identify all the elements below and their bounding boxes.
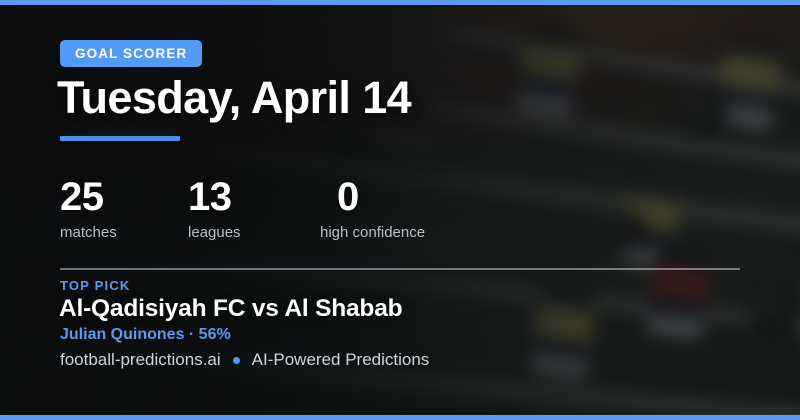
title-underline-rule	[60, 136, 180, 141]
footer-tagline: AI-Powered Predictions	[252, 350, 430, 370]
footer: football-predictions.ai AI-Powered Predi…	[60, 350, 429, 370]
top-pick-eyebrow: TOP PICK	[60, 278, 131, 293]
stat-matches-label: matches	[60, 224, 188, 241]
prediction-card: GOAL SCORER Tuesday, April 14 25 matches…	[0, 0, 800, 420]
top-pick-selection: Julian Quinones · 56%	[60, 326, 231, 344]
stat-high-confidence: 0 high confidence	[320, 176, 520, 241]
stats-row: 25 matches 13 leagues 0 high confidence	[60, 176, 520, 241]
stat-high-confidence-value: 0	[337, 176, 520, 218]
footer-site-name: football-predictions.ai	[60, 350, 221, 370]
top-pick-match-title: Al-Qadisiyah FC vs Al Shabab	[59, 295, 402, 323]
card-content: GOAL SCORER Tuesday, April 14 25 matches…	[60, 0, 740, 420]
section-divider	[60, 268, 740, 270]
stat-matches-value: 25	[60, 176, 188, 218]
stat-leagues: 13 leagues	[188, 176, 320, 241]
badge-label: GOAL SCORER	[75, 46, 187, 61]
page-title: Tuesday, April 14	[57, 74, 411, 121]
goal-scorer-badge: GOAL SCORER	[60, 40, 202, 67]
stat-leagues-value: 13	[188, 176, 320, 218]
blue-dot-icon	[233, 357, 240, 364]
stat-leagues-label: leagues	[188, 224, 320, 241]
stat-matches: 25 matches	[60, 176, 188, 241]
stat-high-confidence-label: high confidence	[320, 224, 520, 241]
